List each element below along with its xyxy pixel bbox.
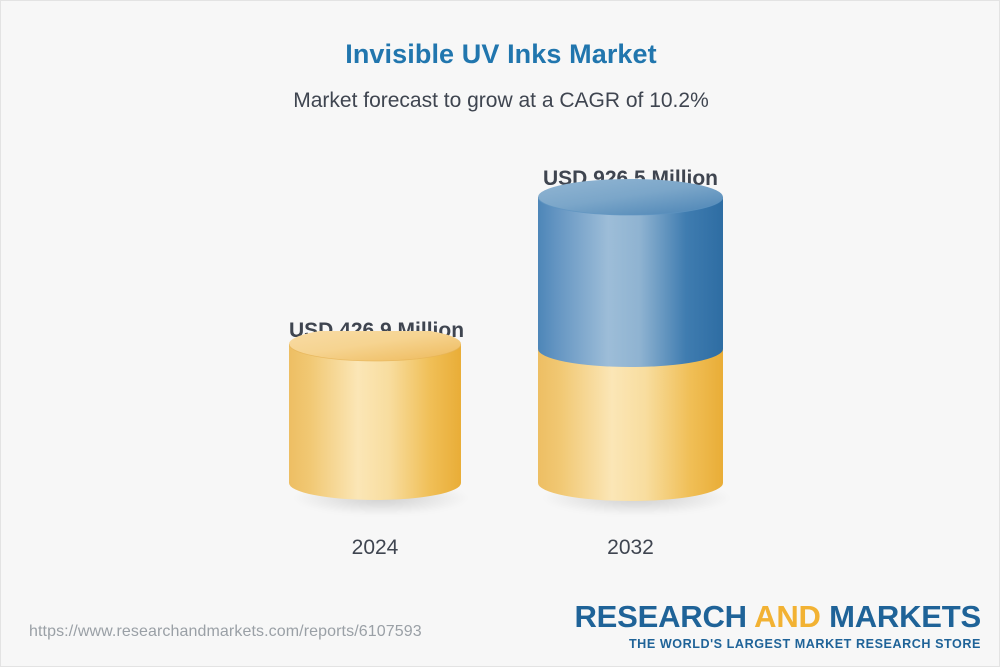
bar-category-label-2024: 2024 xyxy=(289,536,461,560)
bar-shape-2024 xyxy=(289,331,461,509)
bar-category-label-2032: 2032 xyxy=(538,536,723,560)
brand-tagline: THE WORLD'S LARGEST MARKET RESEARCH STOR… xyxy=(575,637,982,651)
bar-group-2032: USD 926.5 Million xyxy=(538,131,723,571)
bar-cylinder-2024[interactable] xyxy=(289,331,461,509)
source-url[interactable]: https://www.researchandmarkets.com/repor… xyxy=(29,623,422,641)
chart-subtitle: Market forecast to grow at a CAGR of 10.… xyxy=(1,89,1000,113)
brand-logo[interactable]: RESEARCH AND MARKETS THE WORLD'S LARGEST… xyxy=(575,601,982,651)
page-title: Invisible UV Inks Market xyxy=(1,39,1000,70)
bar-shape-2032 xyxy=(538,179,723,509)
brand-word-markets: MARKETS xyxy=(829,599,981,634)
bar-group-2024: USD 426.9 Million xyxy=(289,131,461,571)
brand-word-research: RESEARCH xyxy=(575,599,747,634)
brand-word-and: AND xyxy=(754,599,821,634)
brand-wordmark: RESEARCH AND MARKETS xyxy=(575,601,982,632)
bar-cylinder-2032[interactable] xyxy=(538,179,723,509)
chart-canvas: Invisible UV Inks Market Market forecast… xyxy=(0,0,1000,667)
plot-area: USD 426.9 Million xyxy=(1,131,1000,571)
